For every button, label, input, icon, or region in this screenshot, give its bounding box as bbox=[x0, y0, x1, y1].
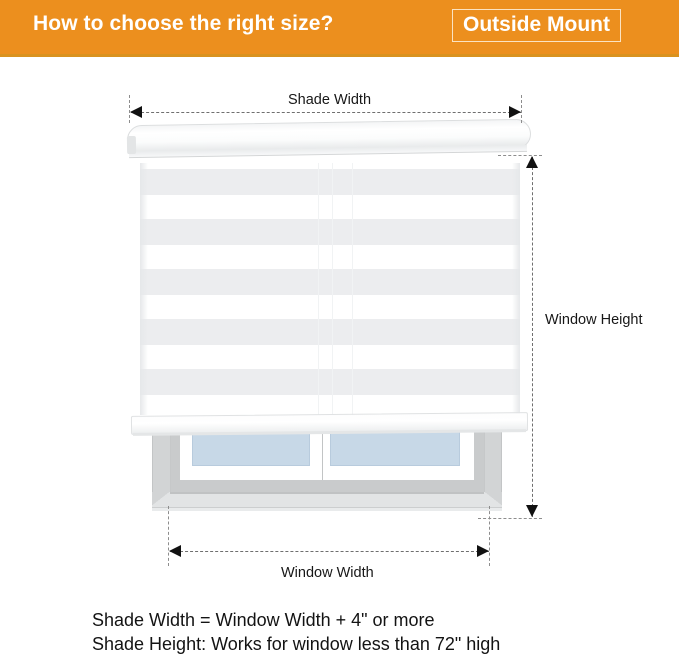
dimension-line bbox=[532, 157, 533, 517]
shade-seam bbox=[318, 163, 319, 415]
extension-line-right bbox=[521, 95, 522, 123]
size-guide-page: How to choose the right size? Outside Mo… bbox=[0, 0, 679, 660]
extension-line-left bbox=[168, 506, 169, 566]
extension-line-bottom bbox=[478, 518, 542, 519]
window-jamb-left bbox=[170, 430, 171, 492]
shade-band bbox=[140, 169, 520, 195]
shade-band bbox=[140, 369, 520, 395]
window-sash-divider bbox=[322, 430, 323, 480]
window-width-label: Window Width bbox=[281, 565, 374, 581]
shade-band bbox=[140, 219, 520, 245]
window-jamb-right bbox=[484, 430, 485, 492]
shade-headrail-endcap bbox=[127, 136, 136, 154]
zebra-shade-fabric bbox=[140, 163, 520, 415]
arrow-up-icon bbox=[526, 156, 538, 168]
window-height-label: Window Height bbox=[545, 312, 643, 328]
window-sill bbox=[152, 494, 502, 508]
window-sill-shadow bbox=[152, 508, 502, 511]
shade-seam bbox=[352, 163, 353, 415]
header-underline bbox=[0, 54, 679, 57]
dimension-line bbox=[131, 112, 521, 113]
footer-note-width: Shade Width = Window Width + 4" or more bbox=[92, 610, 435, 631]
arrow-right-icon bbox=[509, 106, 521, 118]
shade-edge-shadow-right bbox=[512, 163, 520, 415]
window-glass-pane-left bbox=[192, 430, 310, 466]
shade-band bbox=[140, 269, 520, 295]
window-sill-bevel-right bbox=[484, 492, 502, 506]
mount-type-badge: Outside Mount bbox=[452, 9, 621, 42]
arrow-left-icon bbox=[169, 545, 181, 557]
footer-note-height: Shade Height: Works for window less than… bbox=[92, 634, 500, 655]
window-sill-bevel-left bbox=[152, 492, 170, 506]
shade-seam bbox=[332, 163, 333, 415]
shade-band bbox=[140, 319, 520, 345]
page-title: How to choose the right size? bbox=[33, 12, 333, 36]
extension-line-right bbox=[489, 506, 490, 566]
dimension-line bbox=[170, 551, 489, 552]
shade-width-label: Shade Width bbox=[288, 92, 371, 108]
arrow-right-icon bbox=[477, 545, 489, 557]
arrow-left-icon bbox=[130, 106, 142, 118]
window-glass-pane-right bbox=[330, 430, 460, 466]
shade-edge-shadow-left bbox=[140, 163, 148, 415]
arrow-down-icon bbox=[526, 505, 538, 517]
